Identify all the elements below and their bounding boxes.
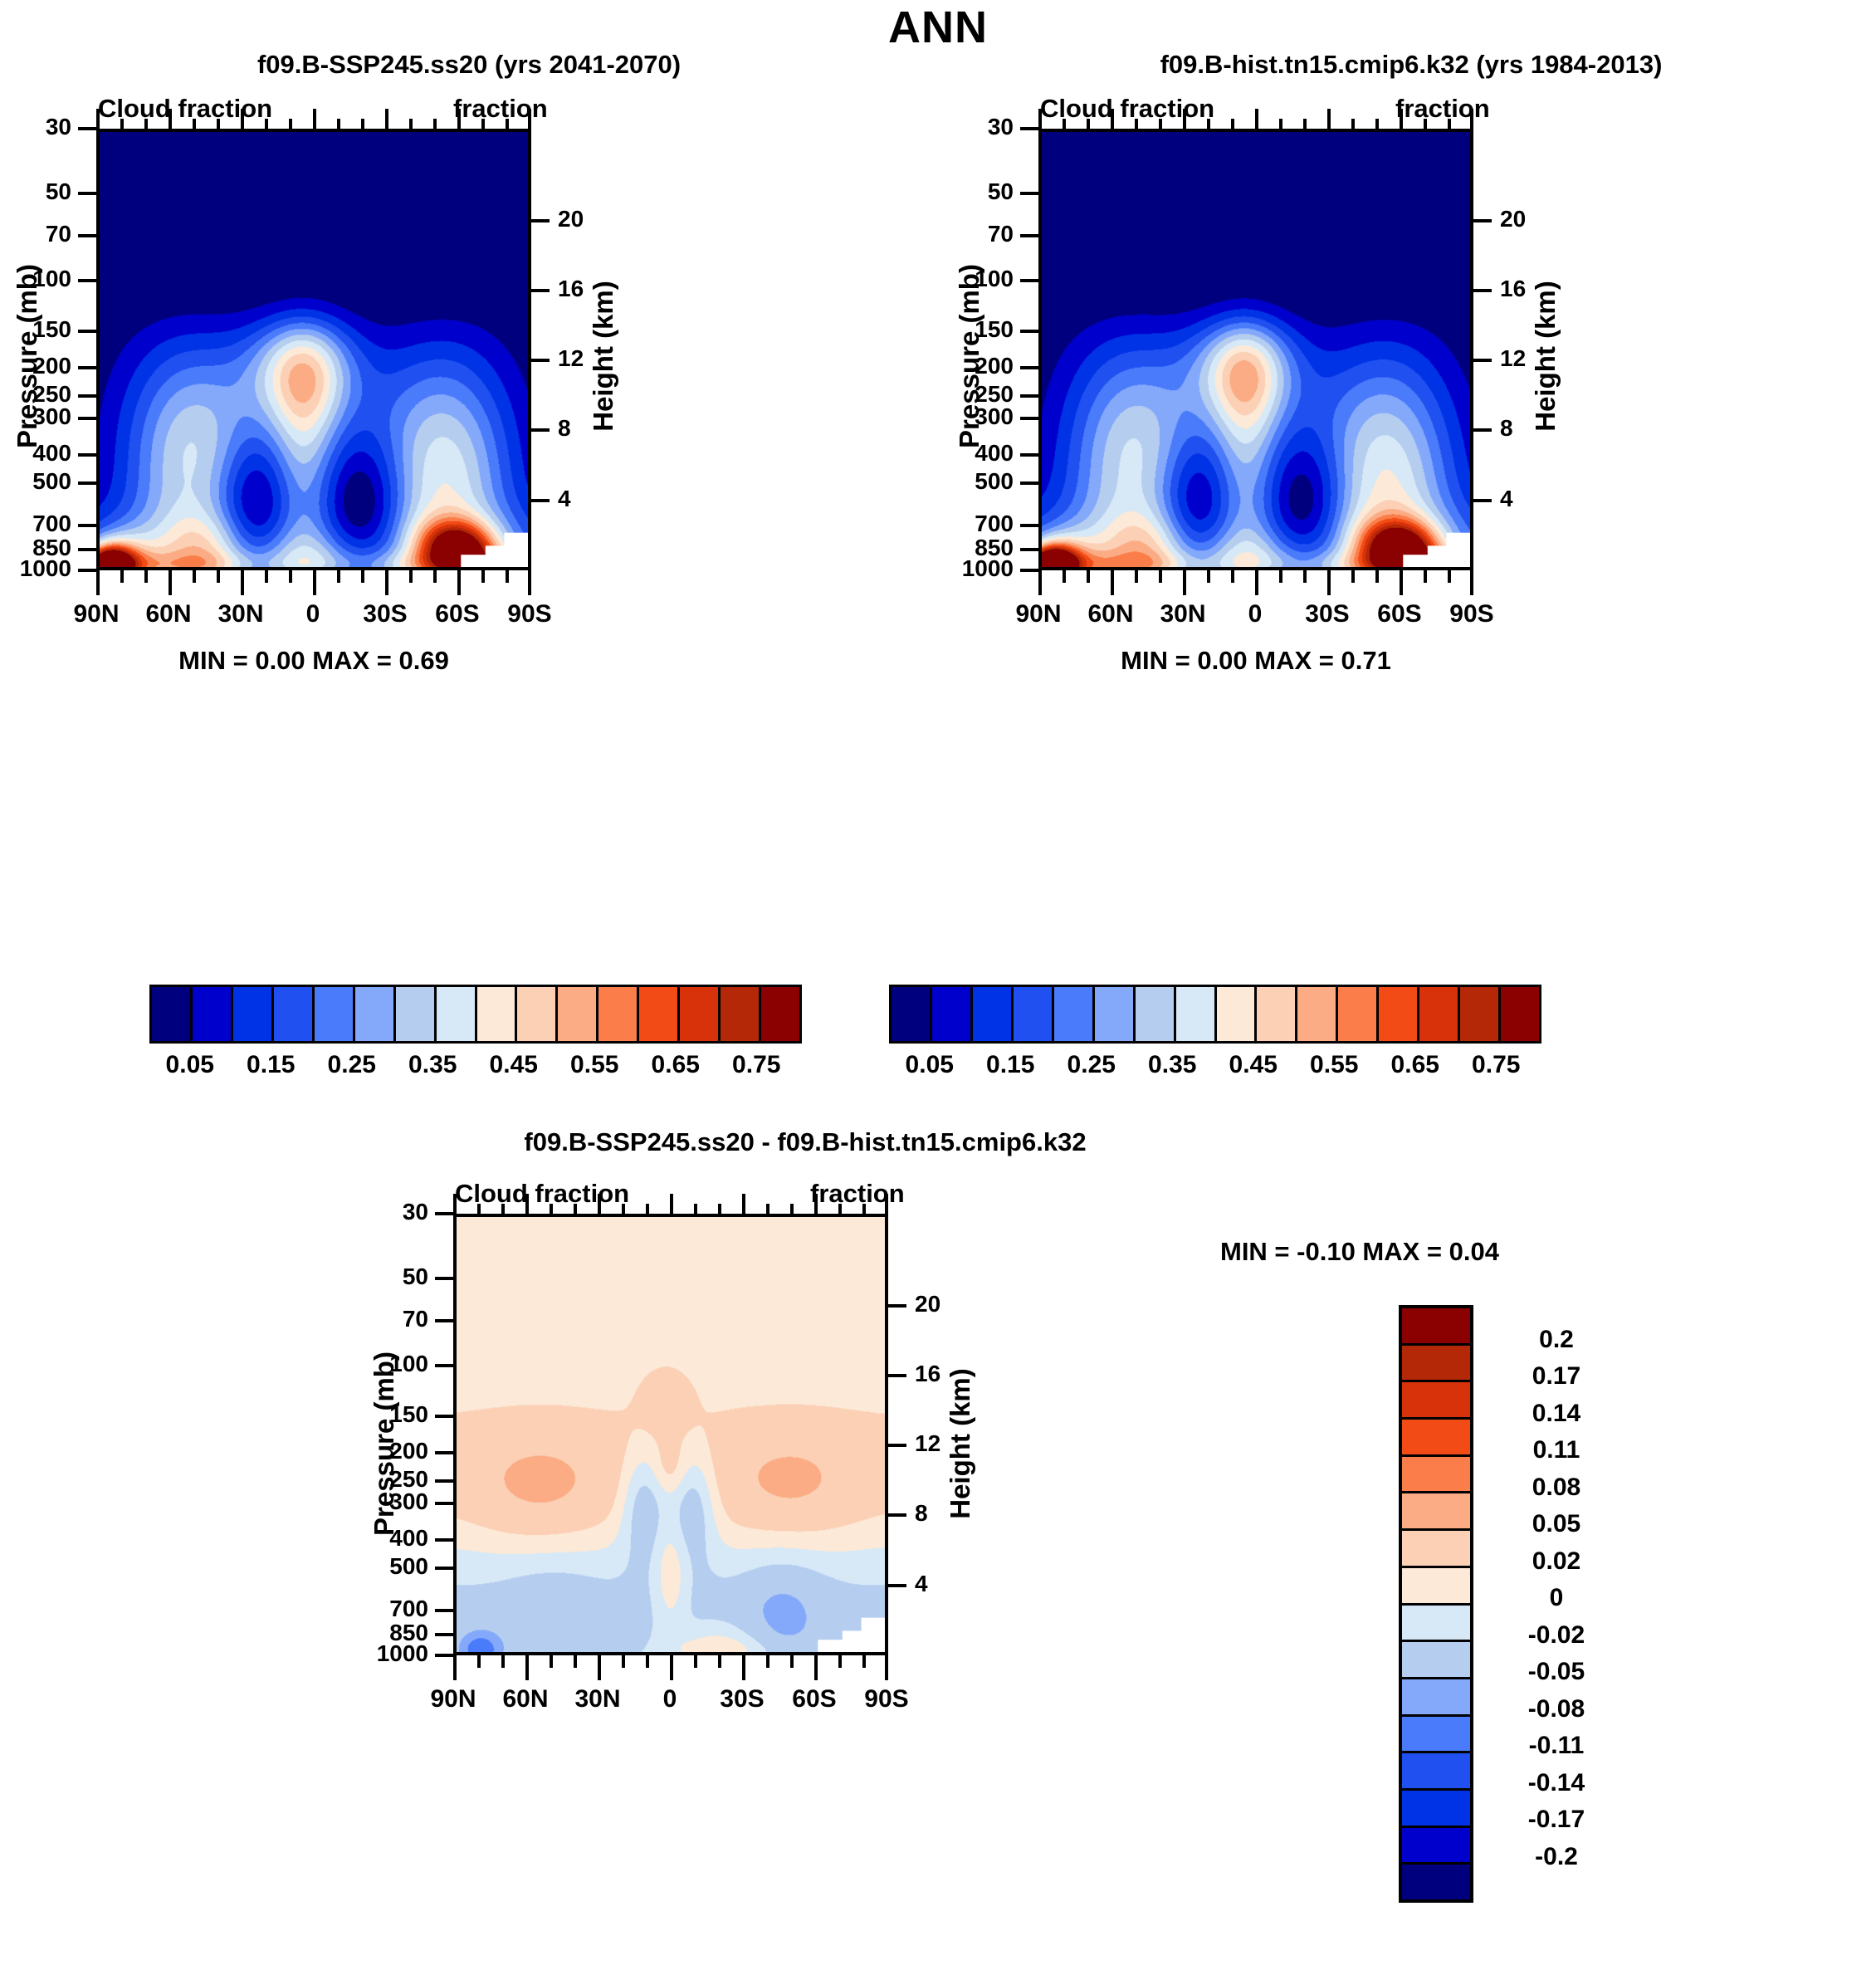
pressure-tick [1020, 394, 1038, 398]
pressure-tick [78, 481, 96, 485]
colorbar-swatch [1501, 987, 1539, 1041]
colorbar-tick-label: 0.17 [1486, 1362, 1627, 1391]
pressure-tick-label: 400 [914, 440, 1014, 467]
panel-bottom-diff-plot[interactable] [453, 1214, 888, 1655]
pressure-tick [435, 1364, 453, 1367]
panel-bottom-diff-title: f09.B-SSP245.ss20 - f09.B-hist.tn15.cmip… [266, 1127, 1345, 1157]
pressure-tick-label: 700 [914, 511, 1014, 537]
colorbar-swatch [437, 987, 477, 1041]
pressure-tick-label: 50 [329, 1264, 428, 1290]
pressure-tick-label: 200 [0, 353, 71, 379]
pressure-tick-label: 200 [914, 353, 1014, 379]
height-tick [531, 219, 550, 222]
height-tick-label: 8 [1500, 415, 1600, 442]
colorbar-swatch [477, 987, 518, 1041]
colorbar-swatch [152, 987, 193, 1041]
height-tick [1473, 289, 1492, 292]
pressure-tick-label: 700 [329, 1596, 428, 1622]
colorbar-swatch [1402, 1642, 1470, 1679]
pressure-tick [78, 548, 96, 551]
colorbar-tick-label: 0.75 [706, 1051, 806, 1079]
height-tick-label: 20 [1500, 206, 1600, 232]
pressure-tick-label: 50 [0, 178, 71, 205]
pressure-tick [78, 234, 96, 237]
pressure-tick-label: 70 [329, 1306, 428, 1332]
pressure-tick [78, 453, 96, 457]
height-tick [531, 289, 550, 292]
height-tick-label: 4 [915, 1571, 1014, 1597]
height-tick [531, 428, 550, 432]
colorbar-top-left[interactable] [149, 985, 802, 1044]
panel-bottom-diff-minmax: MIN = -0.10 MAX = 0.04 [1220, 1237, 1499, 1267]
pressure-tick [435, 1479, 453, 1483]
pressure-tick [78, 417, 96, 420]
panel-top-left-plot[interactable] [96, 129, 531, 570]
colorbar-swatch [1402, 1420, 1470, 1457]
pressure-tick-label: 400 [0, 440, 71, 467]
pressure-tick-label: 100 [0, 266, 71, 292]
panel-top-right-xtick-6: 90S [1422, 600, 1522, 628]
colorbar-swatch [1136, 987, 1176, 1041]
colorbar-swatch [233, 987, 274, 1041]
pressure-tick [1020, 569, 1038, 572]
pressure-tick [1020, 548, 1038, 551]
pressure-tick [435, 1502, 453, 1505]
height-tick-label: 16 [1500, 276, 1600, 302]
pressure-tick [78, 394, 96, 398]
colorbar-swatch [1402, 1457, 1470, 1494]
pressure-tick [435, 1654, 453, 1657]
colorbar-tick-label: -0.05 [1486, 1658, 1627, 1686]
colorbar-tick-label: -0.08 [1486, 1695, 1627, 1723]
colorbar-swatch [1402, 1865, 1470, 1899]
colorbar-swatch [1402, 1346, 1470, 1383]
colorbar-tick-label: 0.08 [1486, 1474, 1627, 1502]
colorbar-swatch [1402, 1753, 1470, 1791]
height-tick-label: 12 [915, 1430, 1014, 1457]
colorbar-swatch [1402, 1828, 1470, 1865]
pressure-tick [78, 192, 96, 195]
colorbar-swatch [1095, 987, 1136, 1041]
height-tick-label: 16 [915, 1361, 1014, 1387]
height-tick-label: 20 [915, 1291, 1014, 1317]
pressure-tick [1020, 366, 1038, 369]
colorbar-swatch [1379, 987, 1419, 1041]
pressure-tick [1020, 279, 1038, 282]
colorbar-tick-label: 0 [1486, 1584, 1627, 1612]
colorbar-swatch [761, 987, 799, 1041]
panel-top-right-minmax: MIN = 0.00 MAX = 0.71 [1038, 646, 1473, 676]
height-tick-label: 4 [558, 486, 657, 512]
colorbar-tick-label: 0.05 [1486, 1510, 1627, 1538]
pressure-tick-label: 30 [0, 114, 71, 140]
panel-top-left-minmax: MIN = 0.00 MAX = 0.69 [96, 646, 531, 676]
colorbar-top-right[interactable] [889, 985, 1541, 1044]
colorbar-tick-label: 0.14 [1486, 1400, 1627, 1428]
pressure-tick [78, 524, 96, 527]
height-tick [531, 359, 550, 362]
pressure-tick-label: 1000 [329, 1640, 428, 1667]
pressure-tick-label: 70 [0, 221, 71, 247]
pressure-tick-label: 300 [0, 403, 71, 430]
colorbar-swatch [1402, 1679, 1470, 1717]
colorbar-swatch [932, 987, 973, 1041]
colorbar-tick-label: 0.11 [1486, 1436, 1627, 1464]
colorbar-difference[interactable] [1399, 1305, 1473, 1903]
pressure-tick [435, 1567, 453, 1570]
pressure-tick-label: 50 [914, 178, 1014, 205]
panel-top-right-title: f09.B-hist.tn15.cmip6.k32 (yrs 1984-2013… [959, 50, 1864, 80]
colorbar-swatch [315, 987, 355, 1041]
pressure-tick [435, 1538, 453, 1542]
pressure-tick [435, 1609, 453, 1612]
colorbar-swatch [892, 987, 932, 1041]
colorbar-tick-label: -0.02 [1486, 1621, 1627, 1650]
colorbar-swatch [680, 987, 721, 1041]
pressure-tick-label: 500 [0, 468, 71, 495]
height-tick [1473, 359, 1492, 362]
height-tick-label: 8 [915, 1500, 1014, 1527]
colorbar-tick-label: -0.17 [1486, 1806, 1627, 1834]
height-tick [888, 1374, 906, 1377]
panel-bottom-diff-contour [457, 1217, 885, 1652]
colorbar-tick-label: -0.2 [1486, 1843, 1627, 1871]
height-tick [888, 1584, 906, 1587]
pressure-tick [435, 1451, 453, 1454]
pressure-tick [78, 569, 96, 572]
pressure-tick-label: 100 [914, 266, 1014, 292]
pressure-tick [78, 279, 96, 282]
height-tick-label: 20 [558, 206, 657, 232]
colorbar-swatch [1257, 987, 1297, 1041]
colorbar-tick-label: 0.02 [1486, 1547, 1627, 1576]
pressure-tick-label: 30 [329, 1199, 428, 1225]
height-tick-label: 12 [558, 345, 657, 372]
colorbar-swatch [517, 987, 558, 1041]
colorbar-swatch [1402, 1382, 1470, 1420]
panel-top-right-top-ticks [1038, 109, 1473, 129]
height-tick-label: 4 [1500, 486, 1600, 512]
panel-top-left-title: f09.B-SSP245.ss20 (yrs 2041-2070) [50, 50, 888, 80]
colorbar-swatch [558, 987, 598, 1041]
pressure-tick-label: 1000 [0, 555, 71, 582]
pressure-tick [78, 366, 96, 369]
panel-bottom-diff-bottom-ticks [453, 1655, 888, 1680]
panel-top-left-contour [100, 132, 528, 567]
pressure-tick [78, 127, 96, 130]
colorbar-swatch [1419, 987, 1460, 1041]
pressure-tick-label: 500 [914, 468, 1014, 495]
colorbar-tick-label: -0.11 [1486, 1732, 1627, 1760]
colorbar-tick-label: -0.14 [1486, 1769, 1627, 1797]
pressure-tick-label: 500 [329, 1553, 428, 1580]
height-tick-label: 16 [558, 276, 657, 302]
pressure-tick [1020, 481, 1038, 485]
figure-title: ANN [0, 2, 1876, 53]
panel-top-left-top-ticks [96, 109, 531, 129]
height-tick-label: 8 [558, 415, 657, 442]
pressure-tick-label: 70 [914, 221, 1014, 247]
height-tick [1473, 428, 1492, 432]
pressure-tick-label: 1000 [914, 555, 1014, 582]
colorbar-swatch [1460, 987, 1501, 1041]
colorbar-tick-label: 0.2 [1486, 1326, 1627, 1354]
panel-top-right-bottom-ticks [1038, 570, 1473, 595]
pressure-tick [435, 1212, 453, 1215]
pressure-tick-label: 30 [914, 114, 1014, 140]
panel-top-right-plot[interactable] [1038, 129, 1473, 570]
colorbar-swatch [1297, 987, 1338, 1041]
height-tick [1473, 219, 1492, 222]
colorbar-swatch [1176, 987, 1217, 1041]
pressure-tick [1020, 234, 1038, 237]
height-tick [1473, 499, 1492, 502]
pressure-tick-label: 150 [0, 316, 71, 343]
pressure-tick [1020, 330, 1038, 333]
pressure-tick [1020, 417, 1038, 420]
height-tick [888, 1304, 906, 1308]
colorbar-swatch [639, 987, 680, 1041]
pressure-tick-label: 300 [329, 1488, 428, 1515]
pressure-tick [435, 1415, 453, 1418]
pressure-tick [1020, 127, 1038, 130]
colorbar-swatch [1054, 987, 1095, 1041]
pressure-tick [435, 1319, 453, 1322]
pressure-tick-label: 100 [329, 1351, 428, 1377]
colorbar-swatch [973, 987, 1014, 1041]
pressure-tick [435, 1277, 453, 1280]
colorbar-swatch [1402, 1791, 1470, 1828]
colorbar-swatch [1402, 1717, 1470, 1754]
colorbar-swatch [1338, 987, 1379, 1041]
colorbar-swatch [1402, 1606, 1470, 1643]
pressure-tick [78, 330, 96, 333]
pressure-tick-label: 300 [914, 403, 1014, 430]
panel-top-right-contour [1042, 132, 1470, 567]
colorbar-tick-label: 0.75 [1446, 1051, 1546, 1079]
height-tick [888, 1444, 906, 1447]
colorbar-swatch [1402, 1308, 1470, 1346]
panel-top-left-bottom-ticks [96, 570, 531, 595]
height-tick [531, 499, 550, 502]
colorbar-swatch [1402, 1531, 1470, 1568]
height-tick-label: 12 [1500, 345, 1600, 372]
height-tick [888, 1513, 906, 1517]
colorbar-swatch [1014, 987, 1054, 1041]
colorbar-swatch [355, 987, 396, 1041]
pressure-tick [435, 1633, 453, 1636]
pressure-tick [1020, 453, 1038, 457]
colorbar-swatch [598, 987, 639, 1041]
pressure-tick [1020, 524, 1038, 527]
colorbar-swatch [193, 987, 233, 1041]
colorbar-swatch [396, 987, 437, 1041]
pressure-tick [1020, 192, 1038, 195]
panel-bottom-diff-top-ticks [453, 1194, 888, 1214]
panel-top-left-xtick-6: 90S [480, 600, 579, 628]
pressure-tick-label: 150 [329, 1401, 428, 1428]
colorbar-swatch [1402, 1568, 1470, 1606]
colorbar-swatch [1217, 987, 1258, 1041]
pressure-tick-label: 700 [0, 511, 71, 537]
pressure-tick-label: 400 [329, 1525, 428, 1552]
pressure-tick-label: 150 [914, 316, 1014, 343]
colorbar-swatch [274, 987, 315, 1041]
colorbar-swatch [721, 987, 761, 1041]
colorbar-swatch [1402, 1493, 1470, 1531]
panel-bottom-diff-xtick-6: 90S [837, 1685, 936, 1713]
pressure-tick-label: 200 [329, 1438, 428, 1464]
